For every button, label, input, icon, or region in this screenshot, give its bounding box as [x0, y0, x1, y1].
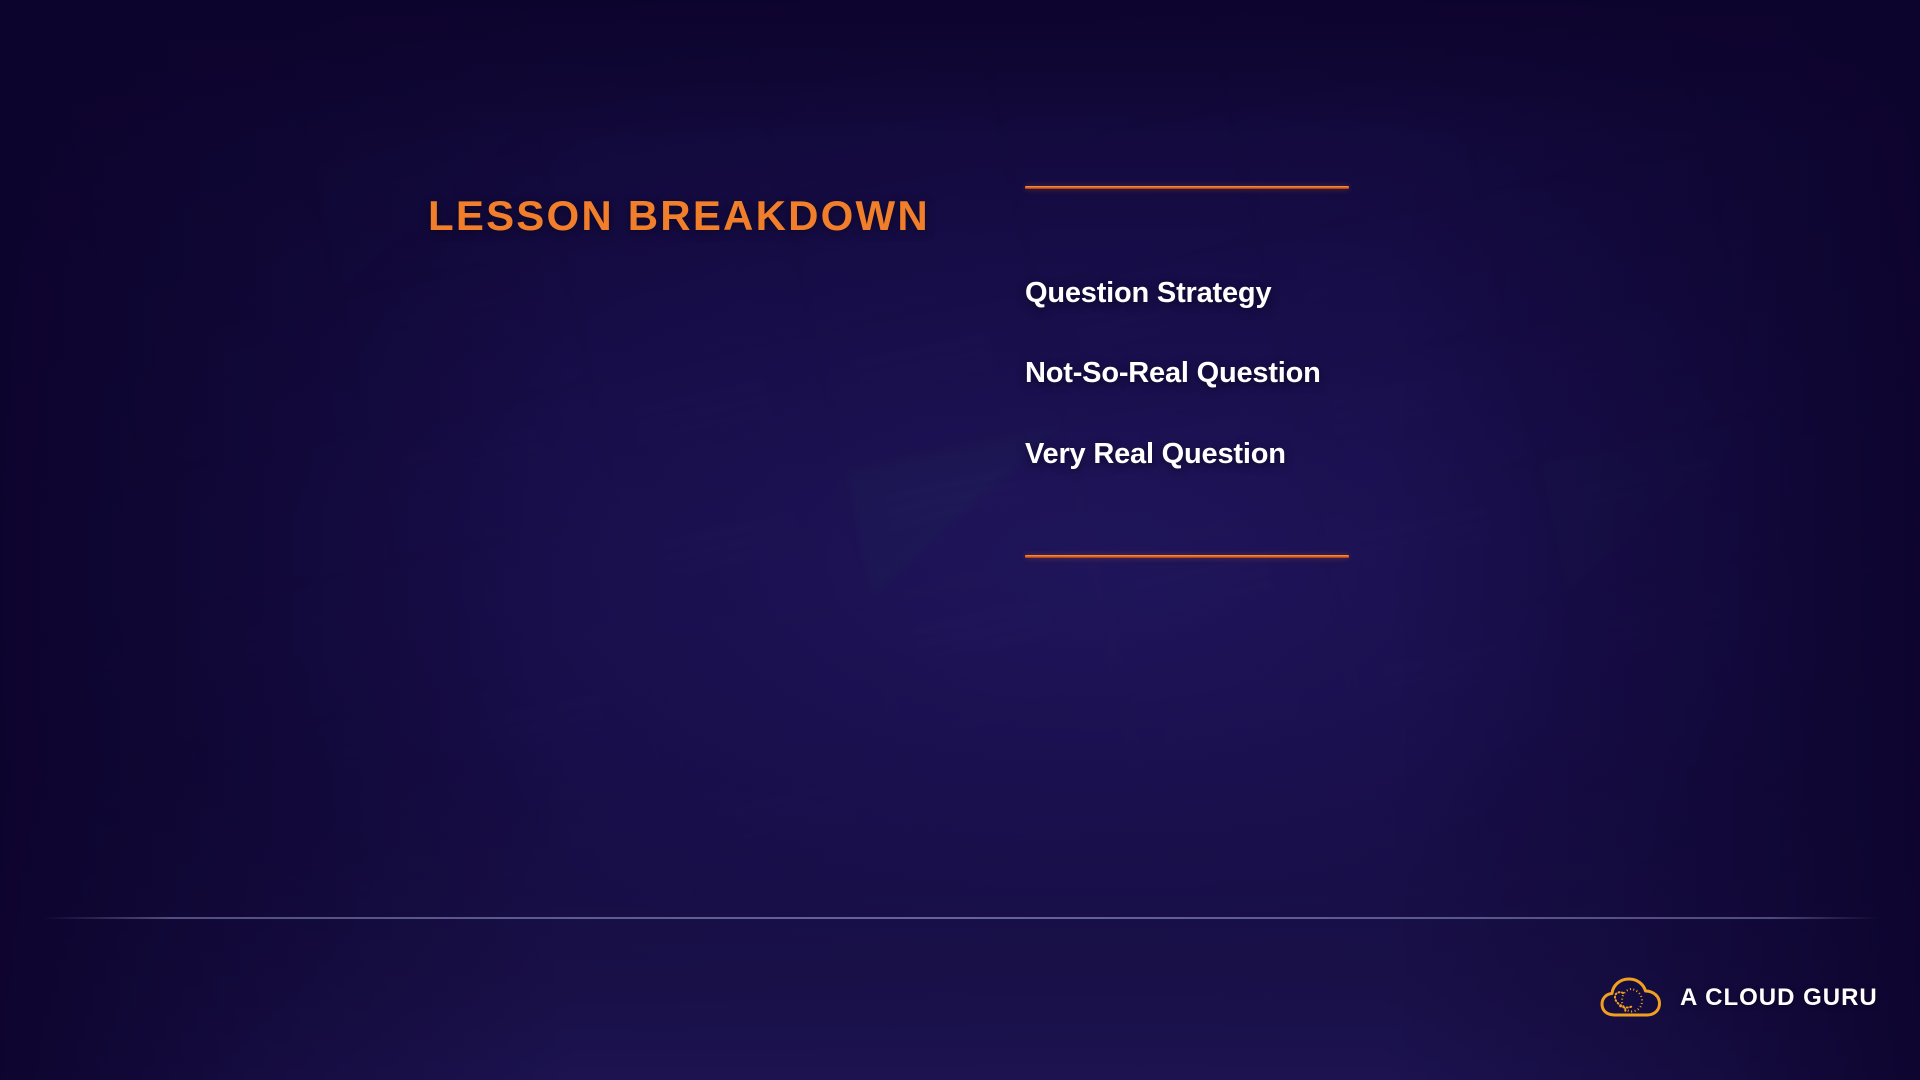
brand-name: A CLOUD GURU: [1680, 984, 1878, 1012]
top-divider-rule: [1025, 186, 1349, 189]
slide-content: LESSON BREAKDOWN Question Strategy Not-S…: [0, 0, 1920, 1080]
list-item: Very Real Question: [1025, 438, 1355, 471]
list-item: Question Strategy: [1025, 277, 1355, 310]
page-title: LESSON BREAKDOWN: [428, 192, 930, 240]
bottom-divider-rule: [1025, 555, 1349, 558]
lesson-breakdown-panel: Question Strategy Not-So-Real Question V…: [1025, 186, 1355, 558]
panel-spacer: [1025, 471, 1355, 555]
brand-lockup: A CLOUD GURU: [1600, 976, 1878, 1020]
slide-canvas: LESSON BREAKDOWN Question Strategy Not-S…: [0, 0, 1920, 1080]
lesson-breakdown-list: Question Strategy Not-So-Real Question V…: [1025, 277, 1355, 471]
cloud-brain-icon: [1600, 976, 1662, 1020]
footer-divider: [42, 917, 1880, 919]
list-item: Not-So-Real Question: [1025, 357, 1355, 390]
